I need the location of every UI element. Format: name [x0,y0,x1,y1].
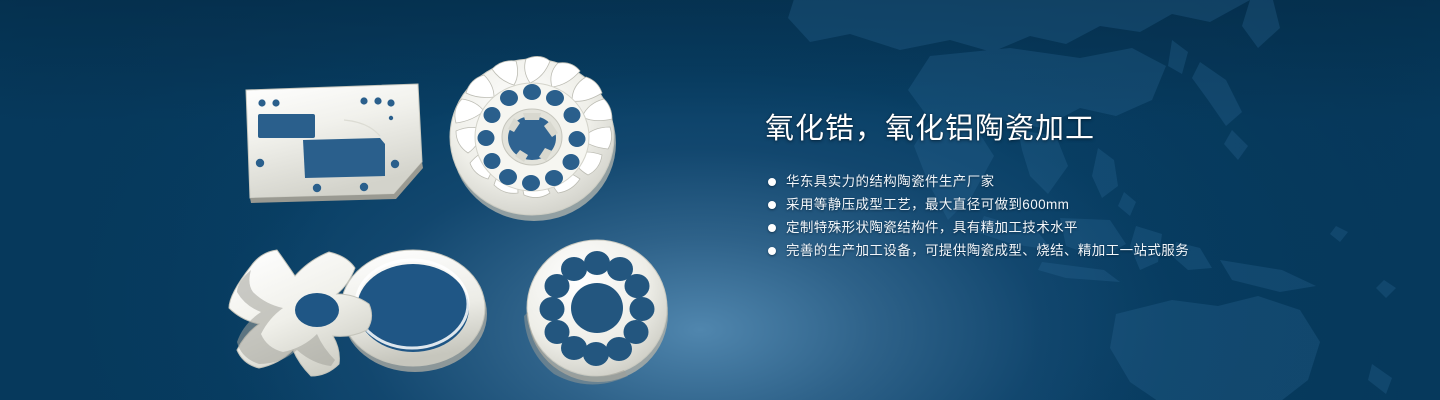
feature-list-item: 完善的生产加工设备，可提供陶瓷成型、烧结、精加工一站式服务 [765,243,1325,259]
bullet-dot-icon [768,201,776,209]
ceramic-impeller-icon [445,45,620,225]
feature-list-item: 采用等静压成型工艺，最大直径可做到600mm [765,197,1325,213]
product-photo-cluster [230,40,720,380]
feature-text: 华东具实力的结构陶瓷件生产厂家 [786,174,995,189]
bullet-dot-icon [768,247,776,255]
bullet-dot-icon [768,178,776,186]
headline: 氧化锆，氧化铝陶瓷加工 [765,110,1325,148]
bullet-dot-icon [768,224,776,232]
background-edge-shade-top [0,0,1440,120]
feature-list: 华东具实力的结构陶瓷件生产厂家 采用等静压成型工艺，最大直径可做到600mm 定… [765,174,1325,259]
copy-block: 氧化锆，氧化铝陶瓷加工 华东具实力的结构陶瓷件生产厂家 采用等静压成型工艺，最大… [765,110,1325,259]
feature-text: 采用等静压成型工艺，最大直径可做到600mm [786,197,1069,212]
feature-text: 完善的生产加工设备，可提供陶瓷成型、烧结、精加工一站式服务 [786,243,1189,258]
feature-list-item: 华东具实力的结构陶瓷件生产厂家 [765,174,1325,190]
feature-text: 定制特殊形状陶瓷结构件，具有精加工技术水平 [786,220,1078,235]
promo-banner: 氧化锆，氧化铝陶瓷加工 华东具实力的结构陶瓷件生产厂家 采用等静压成型工艺，最大… [0,0,1440,400]
ceramic-plate-icon [240,78,425,203]
ceramic-perforated-disc-icon [520,232,675,387]
ceramic-cross-and-ring-icon [235,230,500,380]
feature-list-item: 定制特殊形状陶瓷结构件，具有精加工技术水平 [765,220,1325,236]
